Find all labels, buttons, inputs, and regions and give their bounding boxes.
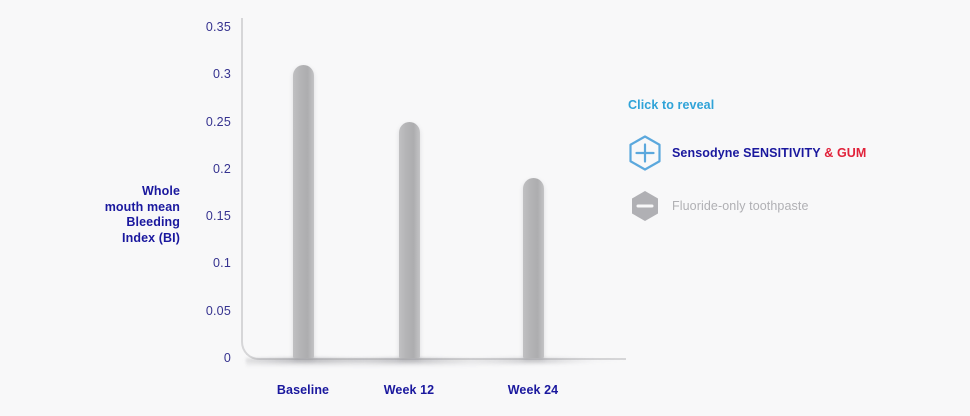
y-axis-tick-labels: 0.350.30.250.20.150.10.050 <box>185 0 231 416</box>
bar[interactable] <box>399 122 420 358</box>
legend-label-fluoride: Fluoride-only toothpaste <box>672 199 809 213</box>
y-tick-label: 0.3 <box>189 67 231 81</box>
y-tick-label: 0.35 <box>189 20 231 34</box>
legend-label-sensodyne: Sensodyne SENSITIVITY & GUM <box>672 146 866 160</box>
hexagon-minus-icon <box>628 187 672 225</box>
chart-root: Whole mouth mean Bleeding Index (BI) 0.3… <box>0 0 970 416</box>
legend-label-sensodyne-primary: Sensodyne SENSITIVITY <box>672 146 821 160</box>
y-tick-label: 0.05 <box>189 304 231 318</box>
legend-label-sensodyne-accent: & GUM <box>821 146 867 160</box>
legend-item-sensodyne[interactable]: Sensodyne SENSITIVITY & GUM <box>628 133 928 173</box>
legend: Click to reveal Sensodyne SENSITIVITY & … <box>628 98 928 226</box>
click-to-reveal-label[interactable]: Click to reveal <box>628 98 928 112</box>
y-tick-label: 0.25 <box>189 115 231 129</box>
x-axis-label: Week 12 <box>339 383 479 397</box>
x-axis-label: Week 24 <box>463 383 603 397</box>
bar[interactable] <box>293 65 314 358</box>
y-tick-label: 0.2 <box>189 162 231 176</box>
y-tick-label: 0 <box>189 351 231 365</box>
y-tick-label: 0.1 <box>189 256 231 270</box>
hexagon-plus-icon <box>628 134 672 172</box>
bar[interactable] <box>523 178 544 358</box>
legend-item-fluoride[interactable]: Fluoride-only toothpaste <box>628 186 928 226</box>
y-tick-label: 0.15 <box>189 209 231 223</box>
